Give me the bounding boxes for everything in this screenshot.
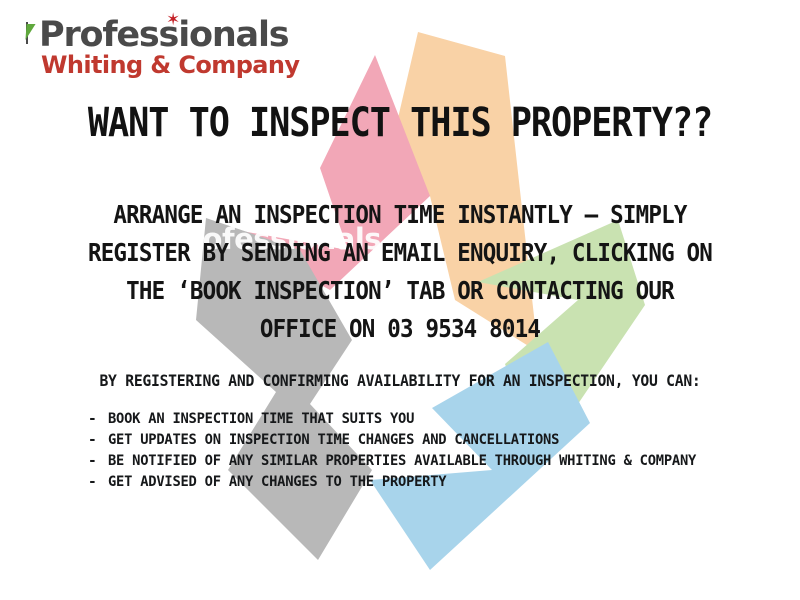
bullet-dash-icon: - — [88, 472, 108, 493]
logo-green-flag-icon — [25, 24, 35, 40]
body-paragraph-line: ARRANGE AN INSPECTION TIME INSTANTLY – S… — [76, 196, 724, 234]
poster-canvas: ✶ Professionals Professionals ✶ Whiting … — [0, 0, 800, 600]
body-paragraph-phone-line: OFFICE ON 03 9534 8014 — [76, 310, 724, 348]
body-paragraph: ARRANGE AN INSPECTION TIME INSTANTLY – S… — [40, 196, 760, 348]
logo-brand-name: Professionals ✶ — [39, 18, 299, 52]
benefits-heading: BY REGISTERING AND CONFIRMING AVAILABILI… — [32, 371, 768, 390]
list-item: - BE NOTIFIED OF ANY SIMILAR PROPERTIES … — [88, 451, 768, 472]
list-item: - GET ADVISED OF ANY CHANGES TO THE PROP… — [88, 472, 768, 493]
list-item-label: GET UPDATES ON INSPECTION TIME CHANGES A… — [108, 430, 559, 451]
page-title: WANT TO INSPECT THIS PROPERTY?? — [48, 100, 752, 146]
bullet-dash-icon: - — [88, 451, 108, 472]
brand-logo[interactable]: Professionals ✶ Whiting & Company — [26, 18, 299, 78]
logo-brand-text: Professionals — [39, 15, 288, 55]
poster-content: WANT TO INSPECT THIS PROPERTY?? ARRANGE … — [0, 0, 800, 600]
list-item: - GET UPDATES ON INSPECTION TIME CHANGES… — [88, 430, 768, 451]
benefits-list: - BOOK AN INSPECTION TIME THAT SUITS YOU… — [88, 409, 768, 493]
logo-office-name: Whiting & Company — [41, 53, 299, 78]
list-item-label: BOOK AN INSPECTION TIME THAT SUITS YOU — [108, 409, 414, 430]
body-paragraph-line: THE ‘BOOK INSPECTION’ TAB OR CONTACTING … — [76, 272, 724, 310]
body-paragraph-line: REGISTER BY SENDING AN EMAIL ENQUIRY, CL… — [76, 234, 724, 272]
list-item-label: BE NOTIFIED OF ANY SIMILAR PROPERTIES AV… — [108, 451, 696, 472]
bullet-dash-icon: - — [88, 430, 108, 451]
bullet-dash-icon: - — [88, 409, 108, 430]
list-item: - BOOK AN INSPECTION TIME THAT SUITS YOU — [88, 409, 768, 430]
logo-star-icon: ✶ — [166, 12, 179, 29]
list-item-label: GET ADVISED OF ANY CHANGES TO THE PROPER… — [108, 472, 446, 493]
